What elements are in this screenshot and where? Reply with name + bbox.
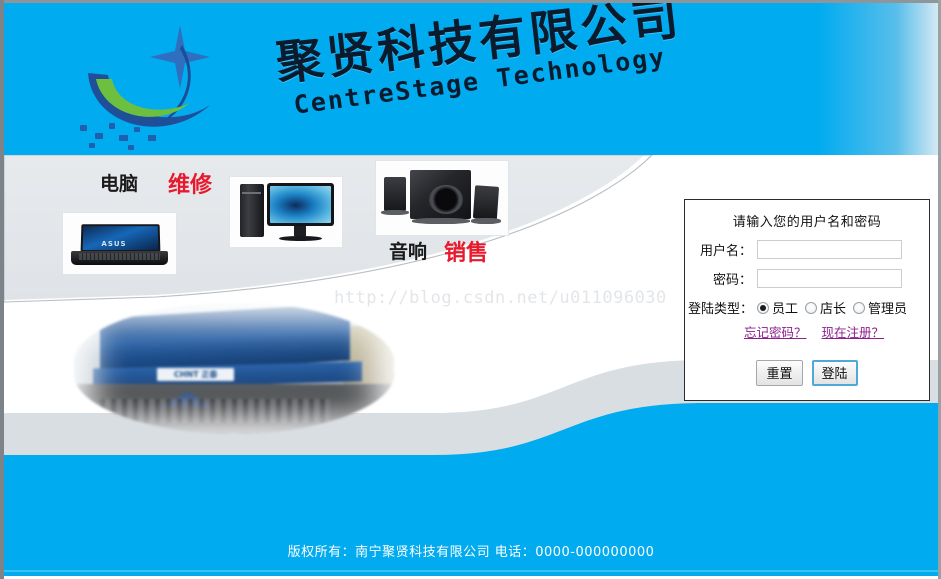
- login-type-row: 登陆类型： 员工 店长 管理员: [685, 298, 929, 317]
- forgot-password-link[interactable]: 忘记密码？: [744, 325, 807, 340]
- password-row: 密码：: [685, 269, 929, 288]
- password-input[interactable]: [757, 269, 902, 288]
- username-row: 用户名：: [685, 240, 929, 259]
- login-panel: 请输入您的用户名和密码 用户名： 密码： 登陆类型： 员工 店长 管理员: [684, 199, 930, 401]
- desktop-monitor-photo: [229, 176, 343, 248]
- promo-strip: 电脑 维修 音响 销售 ASUS: [4, 155, 624, 295]
- storefront-photo: CHNT 正泰: [74, 303, 394, 433]
- login-type-label: 登陆类型：: [685, 298, 757, 317]
- promo-label-sales: 销售: [444, 235, 488, 267]
- radio-option-manager[interactable]: 店长: [805, 298, 846, 317]
- radio-label-manager: 店长: [820, 298, 846, 317]
- reset-button[interactable]: 重置: [756, 360, 802, 386]
- banner-fade: [818, 3, 938, 155]
- promo-label-audio: 音响: [389, 237, 427, 264]
- radio-dot-admin[interactable]: [853, 302, 865, 314]
- radio-label-admin: 管理员: [868, 298, 907, 317]
- radio-dot-employee[interactable]: [757, 302, 769, 314]
- footer-bar: 版权所有：南宁聚贤科技有限公司 电话：0000-000000000: [4, 524, 938, 576]
- login-button[interactable]: 登陆: [812, 360, 858, 386]
- helper-links: 忘记密码？ 现在注册？: [685, 322, 929, 341]
- register-now-link[interactable]: 现在注册？: [822, 325, 885, 340]
- login-buttons: 重置 登陆: [685, 360, 929, 386]
- login-title: 请输入您的用户名和密码: [685, 211, 929, 230]
- radio-label-employee: 员工: [772, 298, 798, 317]
- laptop-brand-label: ASUS: [101, 240, 126, 248]
- radio-option-admin[interactable]: 管理员: [853, 298, 907, 317]
- radio-dot-manager[interactable]: [805, 302, 817, 314]
- header-banner: 聚贤科技有限公司 CentreStage Technology: [4, 3, 938, 155]
- speaker-system-photo: [375, 160, 509, 236]
- footer-accent-line: [4, 570, 938, 572]
- username-input[interactable]: [757, 240, 902, 259]
- copyright-text: 版权所有：南宁聚贤科技有限公司 电话：0000-000000000: [288, 541, 655, 560]
- radio-option-employee[interactable]: 员工: [757, 298, 798, 317]
- promo-label-computer: 电脑: [100, 169, 138, 196]
- username-label: 用户名：: [685, 240, 757, 259]
- login-page: 聚贤科技有限公司 CentreStage Technology: [0, 0, 941, 579]
- watermark-url: http://blog.csdn.net/u011096030: [334, 288, 667, 308]
- company-logo-icon: [62, 17, 272, 152]
- promo-label-repair: 维修: [168, 167, 212, 199]
- password-label: 密码：: [685, 269, 757, 288]
- laptop-photo: ASUS: [62, 212, 177, 275]
